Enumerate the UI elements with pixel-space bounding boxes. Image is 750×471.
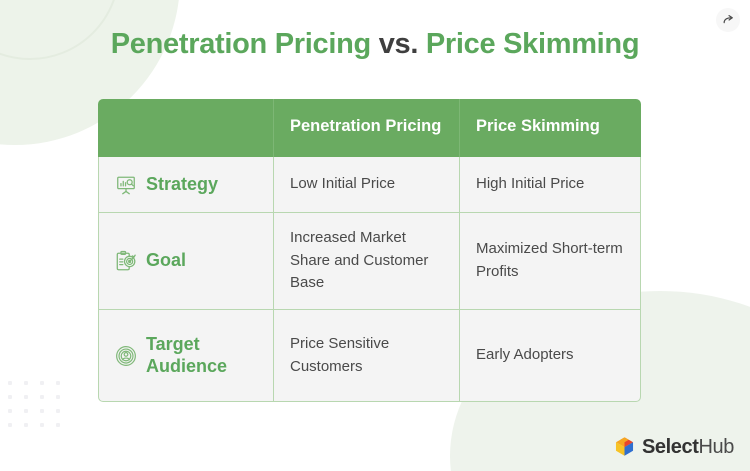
cell-goal-skimming: Maximized Short-term Profits <box>460 213 641 310</box>
page-title: Penetration Pricing vs. Price Skimming <box>0 28 750 61</box>
row-label-cell-goal: Goal <box>98 213 274 310</box>
title-part-skimming: Price Skimming <box>426 28 639 60</box>
row-label-text: Target Audience <box>146 334 259 378</box>
logo-text-select: Select <box>642 436 699 458</box>
cell-value: Maximized Short-term Profits <box>476 238 626 284</box>
title-part-vs: vs. <box>379 28 418 60</box>
comparison-table: Penetration Pricing Price Skimming <box>98 99 641 402</box>
table-row: Strategy Low Initial Price High Initial … <box>98 157 641 213</box>
row-label-text: Strategy <box>146 174 218 196</box>
cell-goal-penetration: Increased Market Share and Customer Base <box>274 213 460 310</box>
cell-value: High Initial Price <box>476 173 626 196</box>
cell-strategy-skimming: High Initial Price <box>460 157 641 213</box>
table-row: Target Audience Price Sensitive Customer… <box>98 310 641 402</box>
clipboard-target-icon <box>115 250 137 272</box>
comparison-table-wrapper: Penetration Pricing Price Skimming <box>98 99 641 402</box>
cell-value: Low Initial Price <box>290 173 445 196</box>
table-header-row: Penetration Pricing Price Skimming <box>98 99 641 157</box>
header-cell-price-skimming: Price Skimming <box>460 99 641 157</box>
row-label-cell-target-audience: Target Audience <box>98 310 274 402</box>
table-row: Goal Increased Market Share and Customer… <box>98 213 641 310</box>
selecthub-logo: SelectHub <box>614 436 734 457</box>
presentation-chart-icon <box>115 174 137 196</box>
header-cell-penetration-pricing: Penetration Pricing <box>274 99 460 157</box>
header-cell-blank <box>98 99 274 157</box>
cell-value: Price Sensitive Customers <box>290 333 445 379</box>
share-icon <box>722 14 735 27</box>
cell-strategy-penetration: Low Initial Price <box>274 157 460 213</box>
title-part-penetration: Penetration Pricing <box>111 28 371 60</box>
table-body: Strategy Low Initial Price High Initial … <box>98 157 641 402</box>
row-label-cell-strategy: Strategy <box>98 157 274 213</box>
cell-value: Increased Market Share and Customer Base <box>290 227 445 295</box>
target-audience-icon <box>115 345 137 367</box>
cell-target-audience-penetration: Price Sensitive Customers <box>274 310 460 402</box>
logo-text-hub: Hub <box>699 436 735 458</box>
decorative-dot-grid <box>8 381 72 437</box>
selecthub-wordmark: SelectHub <box>642 437 734 457</box>
row-label-text: Goal <box>146 250 186 272</box>
cell-value: Early Adopters <box>476 344 626 367</box>
selecthub-cube-icon <box>614 436 635 457</box>
table-head: Penetration Pricing Price Skimming <box>98 99 641 157</box>
share-button[interactable] <box>716 8 740 32</box>
slide-canvas: Penetration Pricing vs. Price Skimming P… <box>0 0 750 471</box>
cell-target-audience-skimming: Early Adopters <box>460 310 641 402</box>
